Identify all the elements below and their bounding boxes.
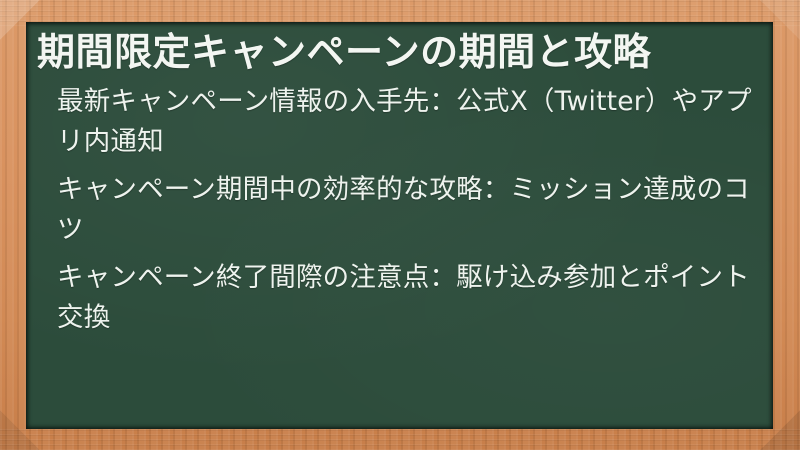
bullet-list: 最新キャンペーン情報の入手先：公式X（Twitter）やアプリ内通知 キャンペー…: [37, 82, 756, 338]
bullet-item-1: 最新キャンペーン情報の入手先：公式X（Twitter）やアプリ内通知: [57, 82, 756, 162]
chalkboard-slide: 期間限定キャンペーンの期間と攻略 最新キャンペーン情報の入手先：公式X（Twit…: [0, 0, 800, 450]
chalkboard-surface: 期間限定キャンペーンの期間と攻略 最新キャンペーン情報の入手先：公式X（Twit…: [26, 22, 773, 429]
bullet-item-2: キャンペーン期間中の効率的な攻略：ミッション達成のコツ: [57, 170, 756, 250]
board-content: 期間限定キャンペーンの期間と攻略 最新キャンペーン情報の入手先：公式X（Twit…: [37, 28, 756, 338]
bullet-item-3: キャンペーン終了間際の注意点：駆け込み参加とポイント交換: [57, 258, 756, 338]
slide-title: 期間限定キャンペーンの期間と攻略: [37, 28, 756, 76]
frame-grain-bottom: [0, 428, 800, 450]
